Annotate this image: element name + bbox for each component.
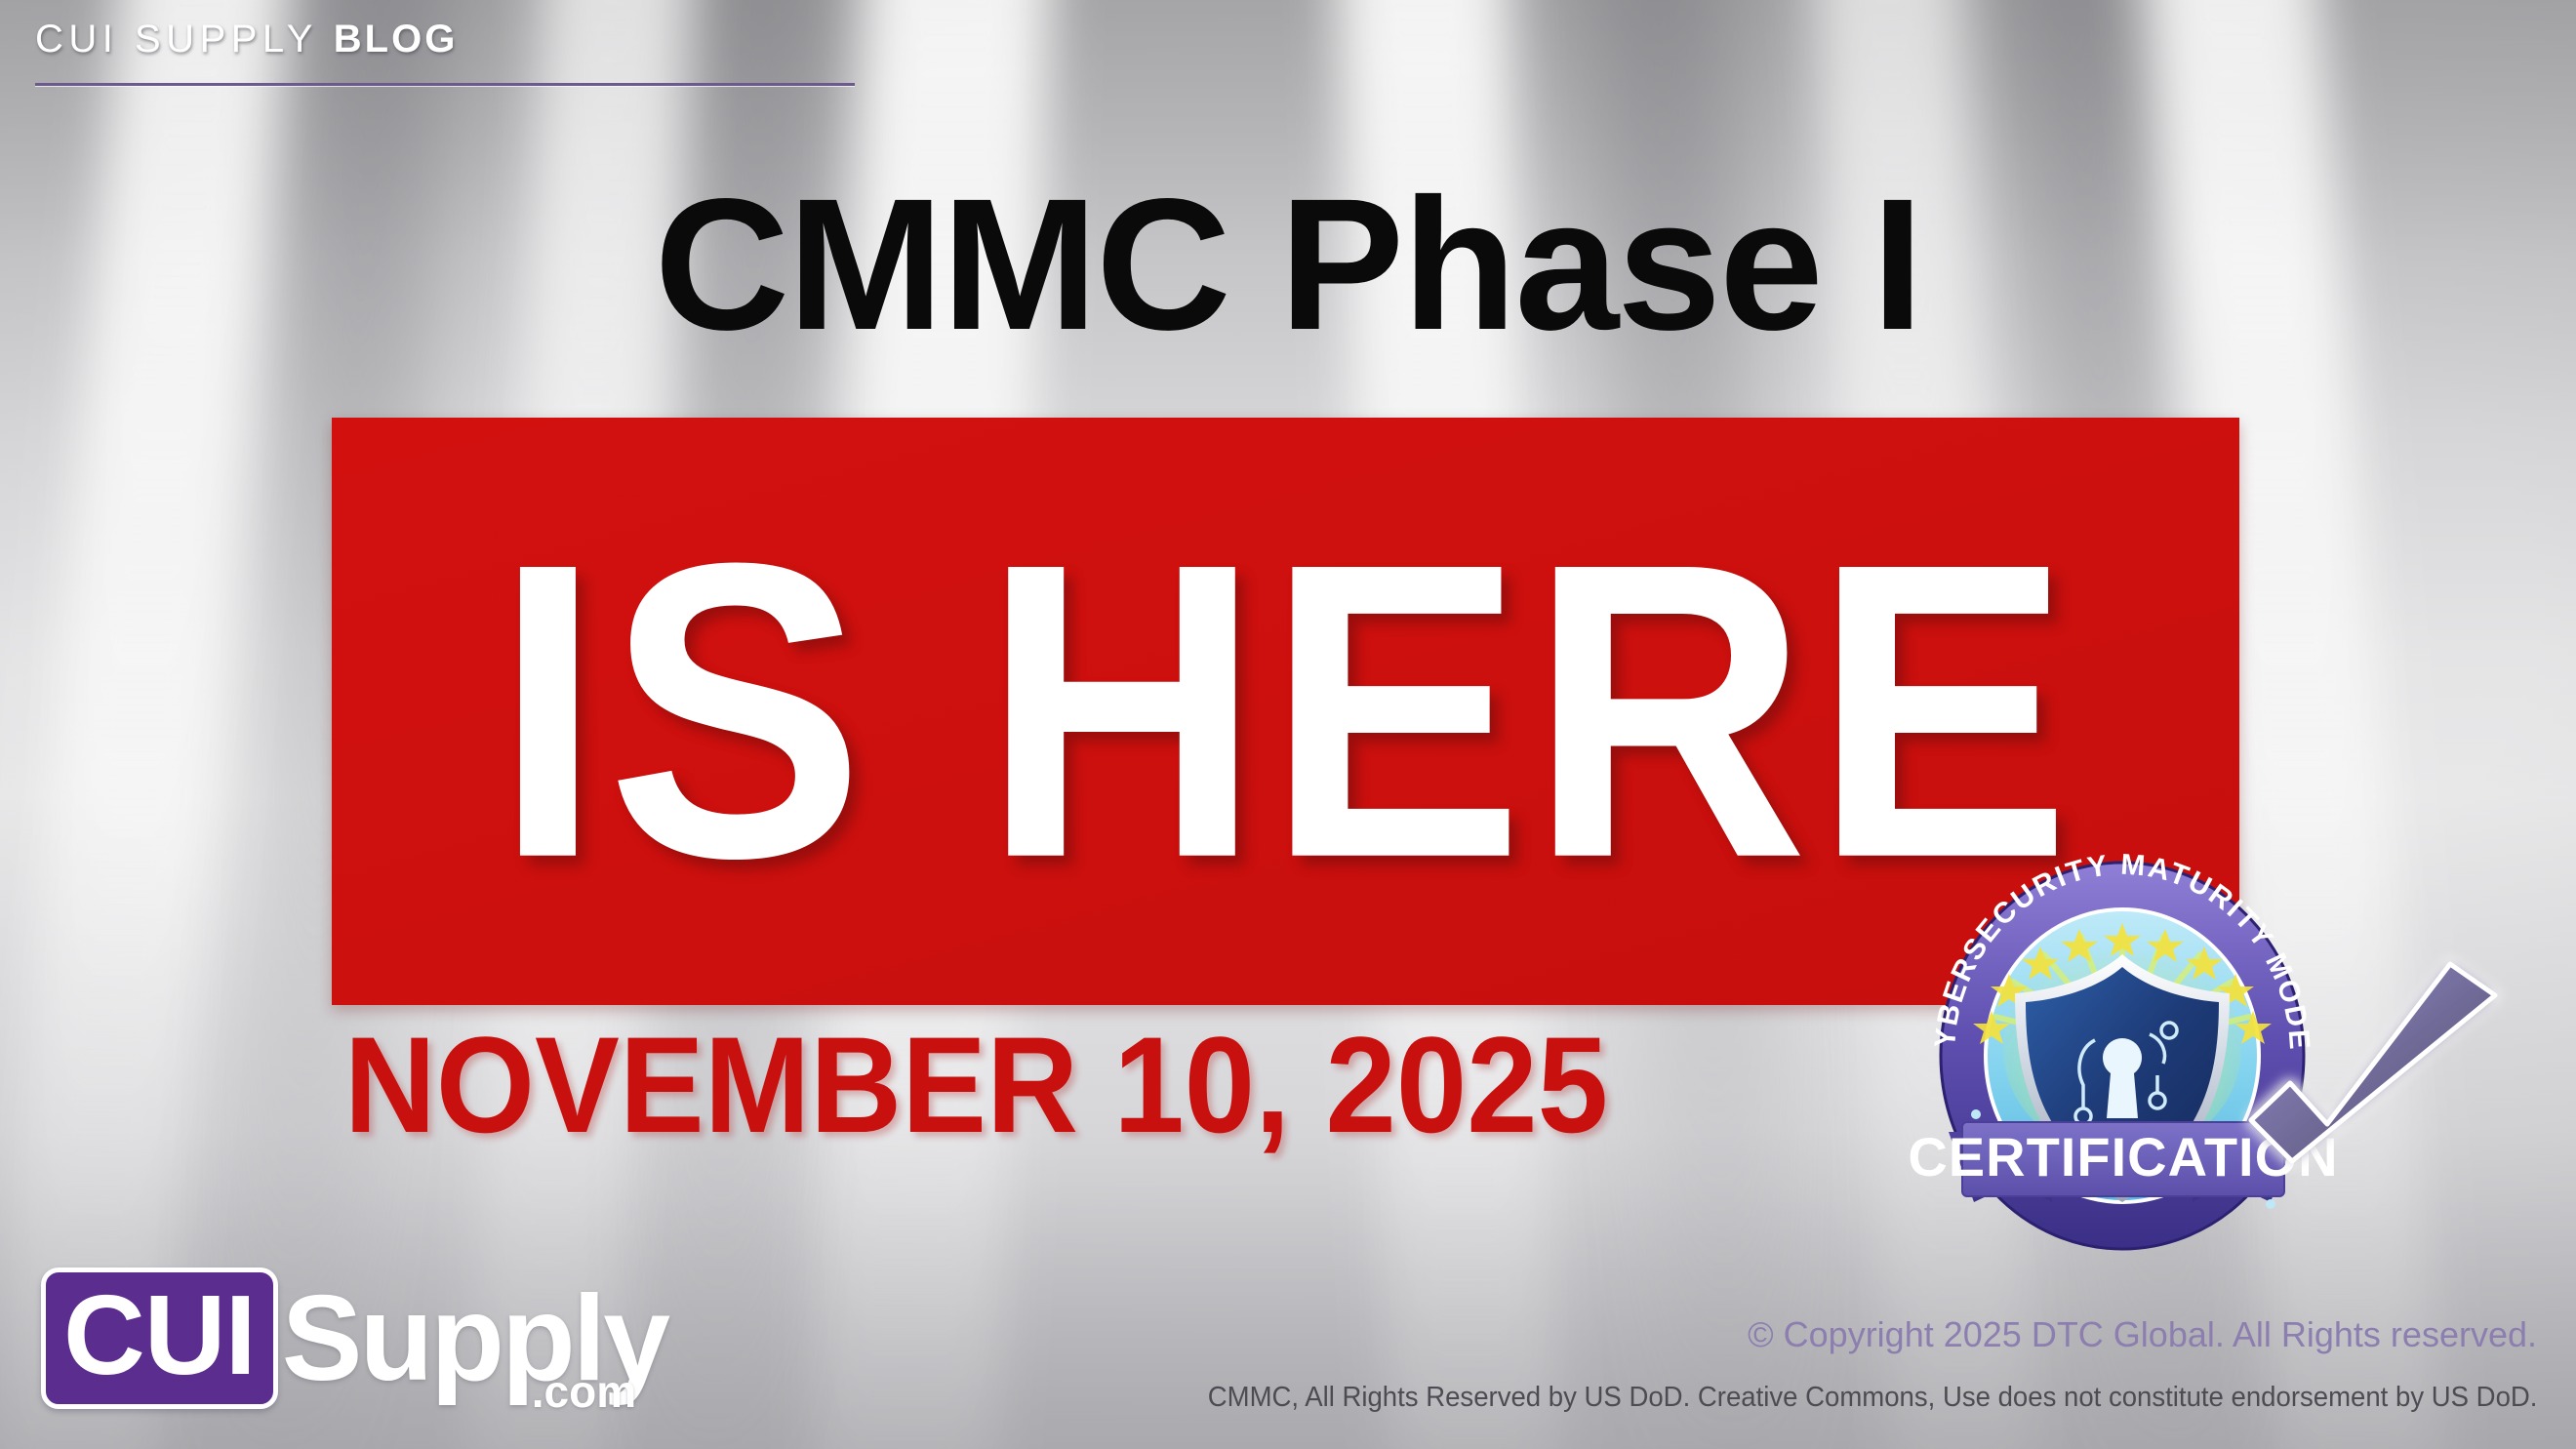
announcement-banner-label: IS HERE — [495, 527, 2076, 896]
page-title: CMMC Phase I — [0, 171, 2576, 358]
effective-date: NOVEMBER 10, 2025 — [0, 1017, 1952, 1153]
logo-tld-text: .com — [532, 1365, 636, 1418]
blog-wordmark-light: CUI SUPPLY — [35, 18, 317, 60]
header-divider — [35, 83, 855, 86]
blog-header: CUI SUPPLY BLOG — [35, 18, 835, 86]
trademark-disclaimer: CMMC, All Rights Reserved by US DoD. Cre… — [1207, 1382, 2537, 1414]
effective-date-label: NOVEMBER 10, 2025 — [343, 1017, 1607, 1153]
logo-chip-text: CUI — [63, 1276, 256, 1395]
cui-supply-logo: CUI Supply .com — [41, 1268, 667, 1410]
copyright-notice: © Copyright 2025 DTC Global. All Rights … — [1748, 1314, 2537, 1355]
logo-wordblock: Supply .com — [282, 1268, 667, 1410]
blog-wordmark: CUI SUPPLY BLOG — [35, 18, 835, 61]
cmmc-certification-badge: CERTIFICATION CYBERSECURITY MATURITY MOD… — [1908, 839, 2571, 1249]
blog-wordmark-bold: BLOG — [334, 18, 459, 60]
logo-chip: CUI — [41, 1268, 278, 1410]
blog-banner-graphic: CUI SUPPLY BLOG CMMC Phase I IS HERE NOV… — [0, 0, 2576, 1449]
